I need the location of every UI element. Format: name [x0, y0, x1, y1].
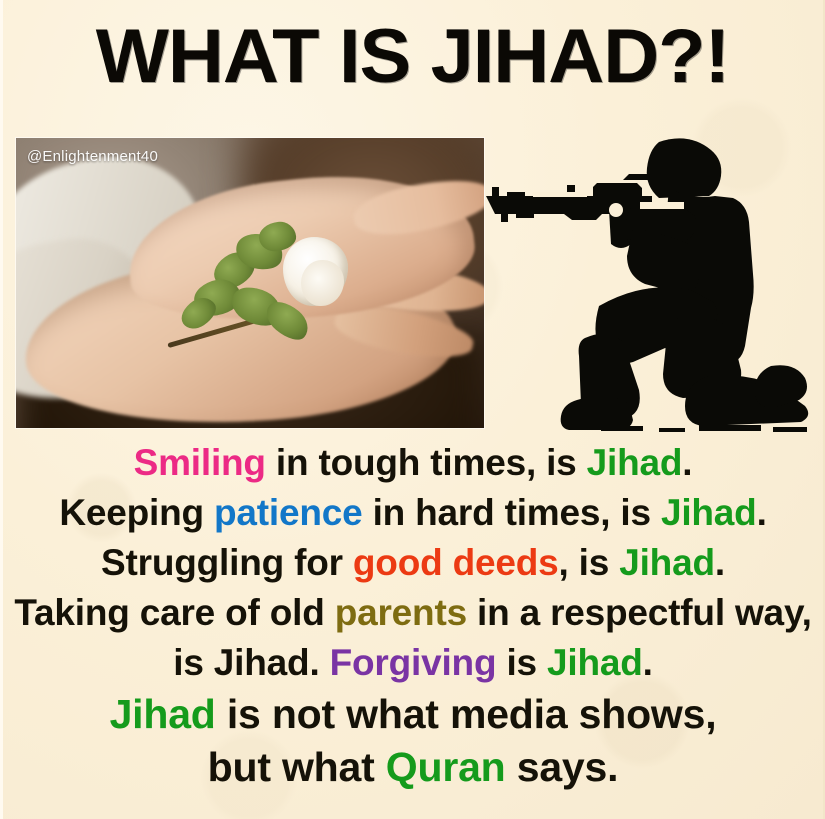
message-line-3: Struggling for good deeds, is Jihad.	[11, 538, 815, 588]
message-line-2-part-3: in hard times, is	[362, 492, 660, 533]
message-line-5-part-2: Forgiving	[330, 642, 497, 683]
message-line-2-part-5: .	[757, 492, 767, 533]
message-line-7-part-3: says.	[506, 744, 619, 790]
message-line-7: but what Quran says.	[11, 741, 815, 794]
title-bar: WHAT IS JIHAD?!	[3, 16, 823, 98]
page-title: WHAT IS JIHAD?!	[96, 16, 730, 98]
message-line-3-part-2: good deeds	[353, 542, 559, 583]
message-line-5-part-5: .	[643, 642, 653, 683]
message-line-3-part-1: Struggling for	[101, 542, 353, 583]
message-line-5-part-3: is	[496, 642, 547, 683]
hands-rose-photo: @Enlightenment40	[16, 138, 484, 428]
message-line-4-part-2: parents	[335, 592, 467, 633]
photo-watermark: @Enlightenment40	[27, 148, 158, 165]
message-line-4: Taking care of old parents in a respectf…	[11, 588, 815, 638]
message-line-7-part-2: Quran	[386, 744, 506, 790]
message-line-6-part-2: is not what media shows,	[216, 691, 717, 737]
message-line-1-part-3: Jihad	[587, 442, 683, 483]
message-line-2-part-4: Jihad	[661, 492, 757, 533]
message-line-3-part-4: Jihad	[619, 542, 715, 583]
message-line-4-part-3: in a respectful way,	[467, 592, 812, 633]
soldier-silhouette	[481, 132, 825, 434]
poster-canvas: WHAT IS JIHAD?! @Enlightenm	[0, 0, 825, 819]
message-block: Smiling in tough times, is Jihad.Keeping…	[3, 438, 823, 794]
message-line-3-part-3: , is	[559, 542, 620, 583]
message-line-2-part-2: patience	[214, 492, 363, 533]
message-line-5-part-4: Jihad	[547, 642, 643, 683]
message-line-7-part-1: but what	[208, 744, 386, 790]
message-line-3-part-5: .	[715, 542, 725, 583]
message-line-1: Smiling in tough times, is Jihad.	[11, 438, 815, 488]
message-line-6: Jihad is not what media shows,	[11, 688, 815, 741]
message-line-5-part-1: is Jihad.	[173, 642, 329, 683]
message-line-2-part-1: Keeping	[59, 492, 214, 533]
message-line-1-part-1: Smiling	[134, 442, 266, 483]
message-line-2: Keeping patience in hard times, is Jihad…	[11, 488, 815, 538]
imagery-row: @Enlightenment40	[3, 132, 825, 434]
message-line-4-part-1: Taking care of old	[14, 592, 334, 633]
soldier-silhouette-svg	[481, 132, 825, 434]
message-line-1-part-2: in tough times, is	[266, 442, 587, 483]
message-line-6-part-1: Jihad	[110, 691, 216, 737]
message-line-5: is Jihad. Forgiving is Jihad.	[11, 638, 815, 688]
message-line-1-part-4: .	[682, 442, 692, 483]
